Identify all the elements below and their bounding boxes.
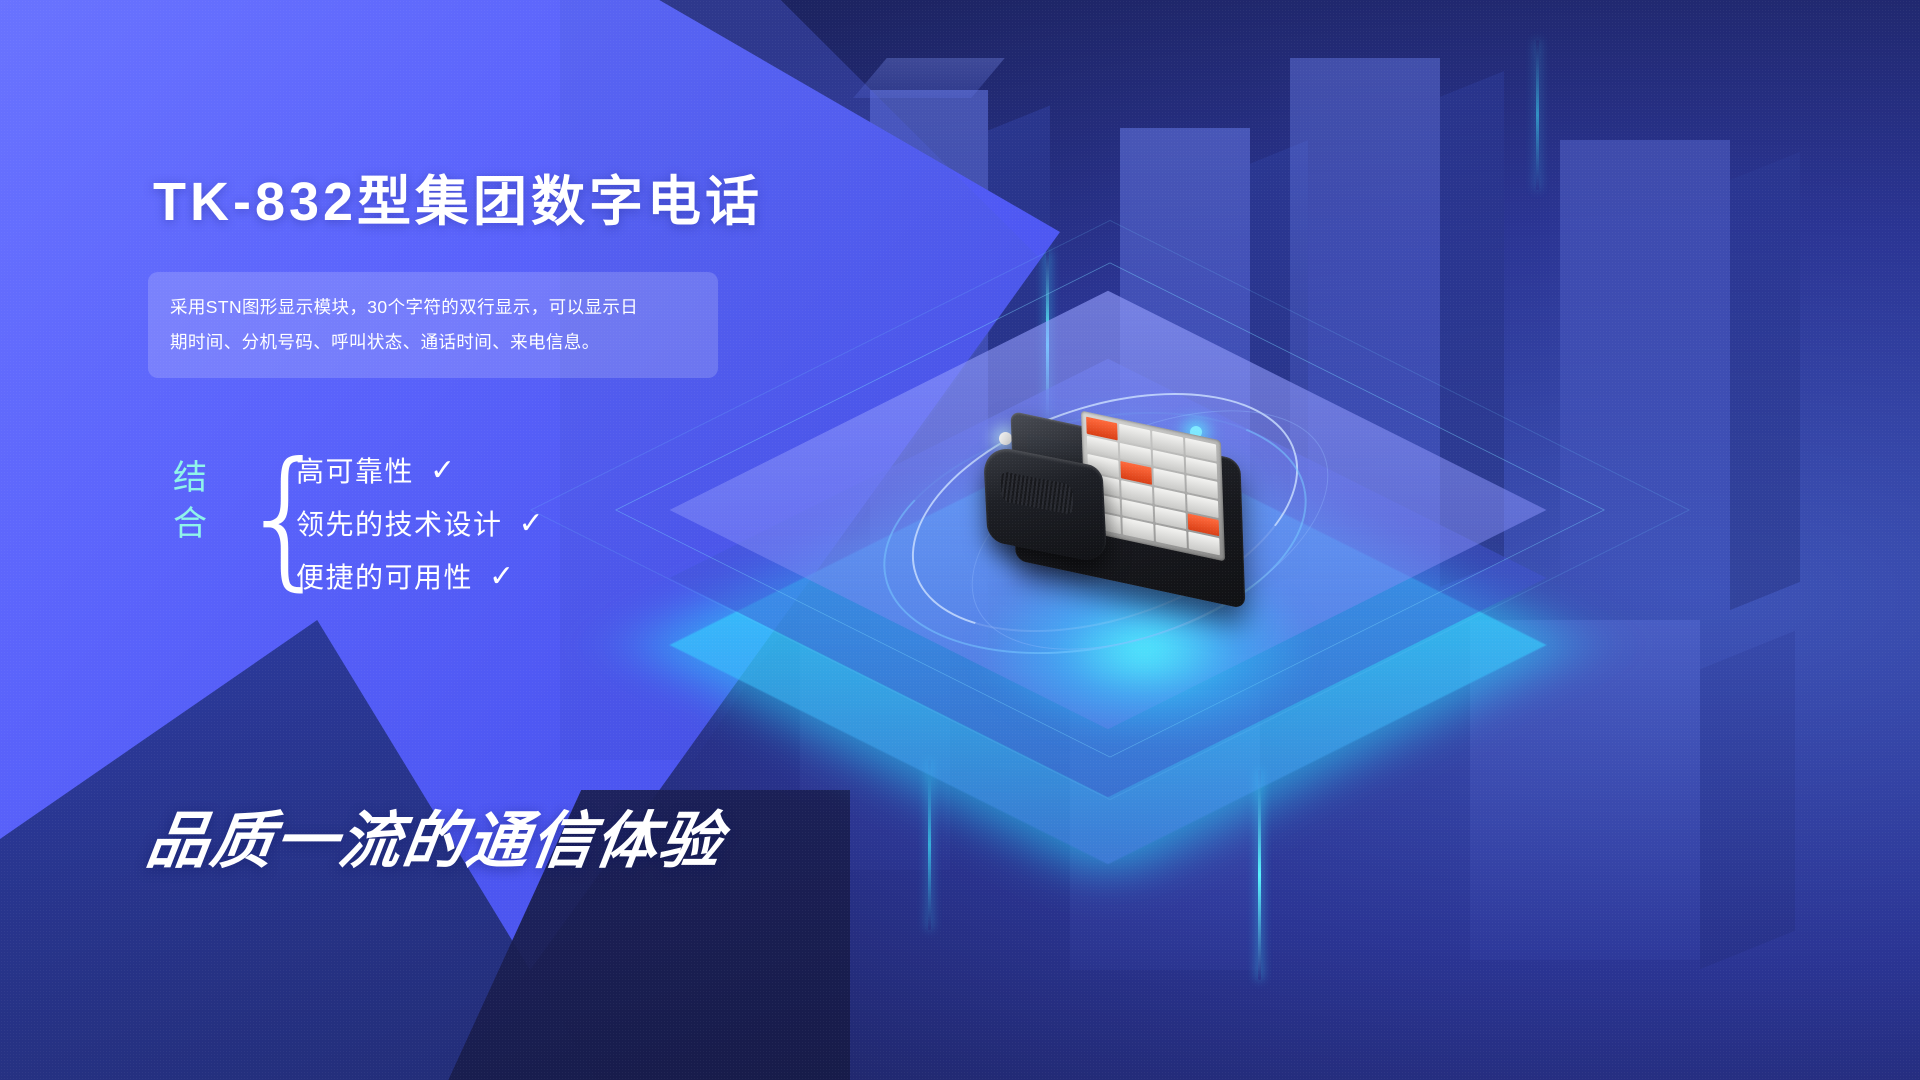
glow-line <box>928 760 931 930</box>
description-line-1: 采用STN图形显示模块，30个字符的双行显示，可以显示日 <box>170 297 638 317</box>
product-banner: TK-832型集团数字电话 采用STN图形显示模块，30个字符的双行显示，可以显… <box>0 0 1920 1080</box>
feature-label: 领先的技术设计 <box>296 503 503 543</box>
telephone-product-image <box>975 418 1265 618</box>
phone-key-grid <box>1086 417 1220 556</box>
feature-label: 便捷的可用性 <box>296 556 473 596</box>
page-title: TK-832型集团数字电话 <box>153 157 763 236</box>
description-line-2: 期时间、分机号码、呼叫状态、通话时间、来电信息。 <box>170 332 600 352</box>
check-icon: ✓ <box>519 506 544 541</box>
feature-item: 领先的技术设计 ✓ <box>296 497 544 549</box>
feature-item: 便捷的可用性 ✓ <box>296 550 544 602</box>
tagline: 品质一流的通信体验 <box>142 790 731 880</box>
description-text: 采用STN图形显示模块，30个字符的双行显示，可以显示日 期时间、分机号码、呼叫… <box>170 290 698 360</box>
glow-line <box>1536 40 1539 190</box>
check-icon: ✓ <box>430 453 455 488</box>
feature-label: 高可靠性 <box>296 450 414 490</box>
feature-list: 高可靠性 ✓ 领先的技术设计 ✓ 便捷的可用性 ✓ <box>296 444 544 603</box>
feature-item: 高可靠性 ✓ <box>296 444 544 496</box>
bar-shape <box>1730 152 1800 610</box>
bar-shape <box>1700 631 1795 969</box>
combine-label: 结合 <box>168 455 214 547</box>
description-panel: 采用STN图形显示模块，30个字符的双行显示，可以显示日 期时间、分机号码、呼叫… <box>148 272 718 378</box>
glow-line <box>1258 770 1261 980</box>
check-icon: ✓ <box>489 559 514 594</box>
bar-shape <box>1470 620 1700 960</box>
